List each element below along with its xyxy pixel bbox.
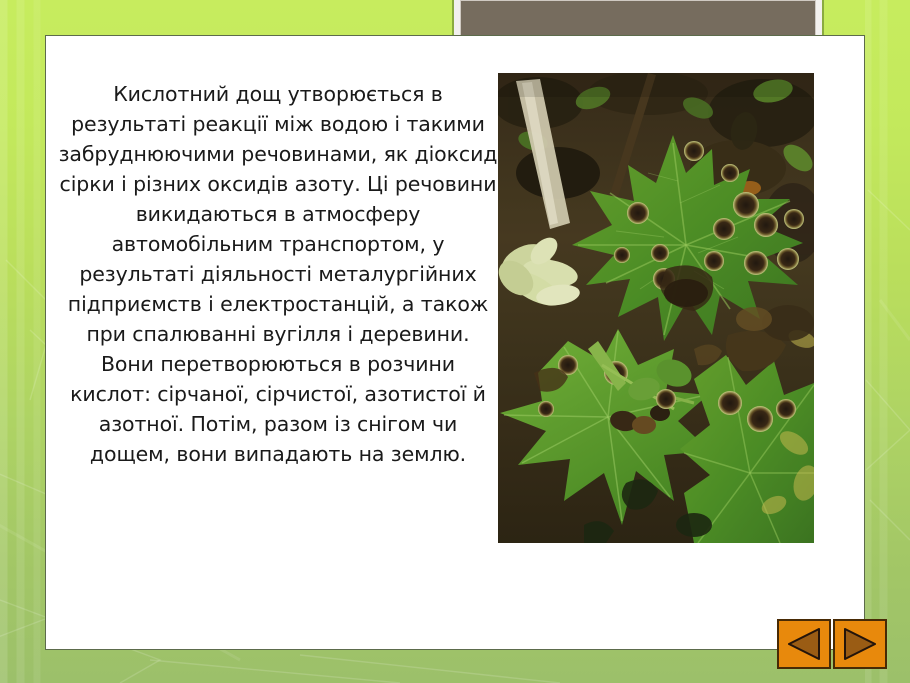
- leaf-photo: [498, 73, 814, 543]
- presentation-slide: Кислотний дощ утворюється в результаті р…: [0, 0, 910, 683]
- background-bands-right: [865, 0, 910, 683]
- slide-navigation: [777, 619, 887, 669]
- background-bands-left: [0, 0, 46, 683]
- content-panel: Кислотний дощ утворюється в результаті р…: [45, 35, 865, 650]
- previous-slide-button[interactable]: [777, 619, 831, 669]
- body-paragraph: Кислотний дощ утворюється в результаті р…: [58, 79, 498, 469]
- next-slide-button[interactable]: [833, 619, 887, 669]
- triangle-right-icon: [843, 628, 877, 660]
- triangle-left-icon: [787, 628, 821, 660]
